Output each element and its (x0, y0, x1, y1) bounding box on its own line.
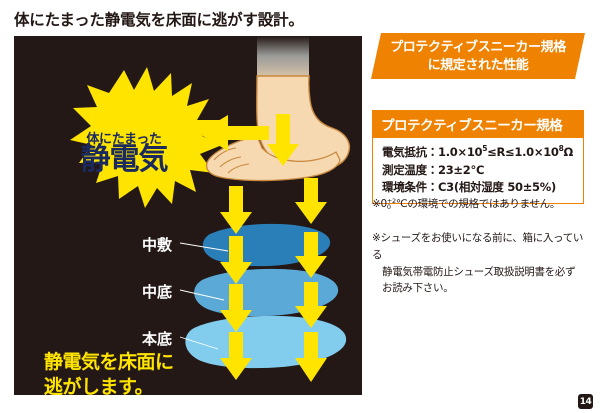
note-temperature: ※0+20℃の環境での規格ではありません。 (372, 196, 588, 212)
layer-label-insole: 中敷 (142, 234, 172, 255)
note-temperature-tolerance: +20 (387, 198, 396, 211)
bottom-message: 静電気を床面に 逃がします。 (44, 350, 174, 395)
illustration-panel: 体にたまった 静電気 中敷 中底 本底 静電気を床面に 逃がします。 (14, 36, 362, 395)
note-manual: ※シューズをお使いになる前に、箱に入っている 静電気帯電防止シューズ取扱説明書を… (372, 230, 588, 297)
spec-row-resistance: 電気抵抗：1.0×105≤R≤1.0×108Ω (382, 143, 577, 162)
spec-row-conditions-value: C3(相対湿度 50±5%) (438, 180, 556, 194)
note-temperature-tolerance-bottom: 0 (387, 204, 396, 211)
note-manual-line-1: ※シューズをお使いになる前に、箱に入っている (372, 232, 583, 261)
burst-label-large: 静電気 (44, 144, 204, 176)
right-column: プロテクティブスニーカー規格 に規定された性能 プロテクティブスニーカー規格 電… (368, 0, 592, 413)
layer-label-midsole: 中底 (142, 281, 172, 302)
note-manual-line-3: お読み下さい。 (372, 280, 588, 297)
spec-box: プロテクティブスニーカー規格 電気抵抗：1.0×105≤R≤1.0×108Ω 測… (372, 110, 584, 204)
banner-text: プロテクティブスニーカー規格 に規定された性能 (371, 39, 585, 75)
spec-row-conditions-label: 環境条件 (382, 180, 427, 194)
layer-label-outsole: 本底 (142, 328, 172, 349)
spec-row-temperature-value: 23±2℃ (438, 163, 484, 177)
static-electricity-diagram (14, 36, 362, 395)
note-temperature-pre: ※0 (372, 198, 387, 210)
banner-line-2: に規定された性能 (428, 58, 529, 73)
arrow-down-foot (295, 178, 327, 224)
spec-row-resistance-value-pre: 1.0×10 (438, 145, 482, 159)
spec-box-body: 電気抵抗：1.0×105≤R≤1.0×108Ω 測定温度：23±2℃ 環境条件：… (373, 138, 583, 203)
bottom-message-line-2: 逃がします。 (44, 376, 153, 395)
spec-row-temperature-label: 測定温度 (382, 163, 427, 177)
performance-banner: プロテクティブスニーカー規格 に規定された性能 (371, 33, 585, 79)
note-temperature-post: ℃の環境での規格ではありません。 (396, 198, 560, 210)
spec-row-resistance-value-post: Ω (564, 145, 573, 159)
spec-box-heading: プロテクティブスニーカー規格 (373, 111, 583, 138)
page-number-badge: 14 (578, 394, 593, 409)
note-manual-line-2: 静電気帯電防止シューズ取扱説明書を必ず (372, 264, 588, 281)
spec-row-resistance-label: 電気抵抗 (382, 145, 427, 159)
spec-row-conditions: 環境条件：C3(相対湿度 50±5%) (382, 179, 577, 197)
bottom-message-line-1: 静電気を床面に (44, 351, 174, 373)
spec-row-resistance-value-mid: ≤R≤1.0×10 (487, 145, 558, 159)
spec-row-temperature: 測定温度：23±2℃ (382, 162, 577, 180)
page-title: 体にたまった静電気を床面に逃がす設計。 (14, 8, 304, 30)
banner-line-1: プロテクティブスニーカー規格 (390, 40, 566, 55)
